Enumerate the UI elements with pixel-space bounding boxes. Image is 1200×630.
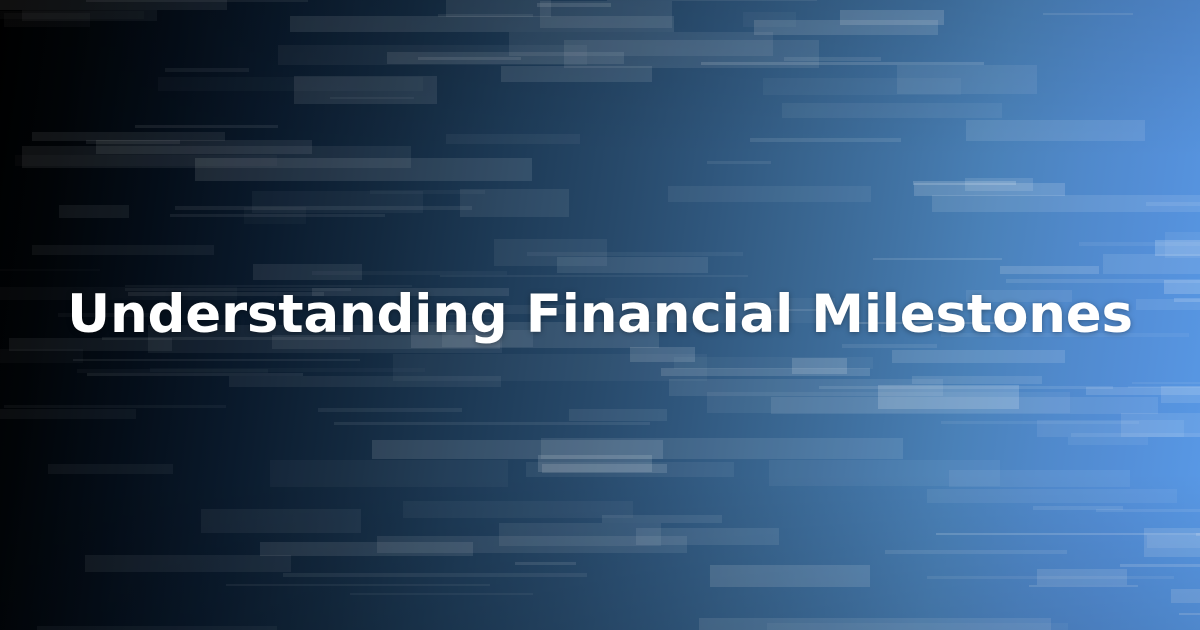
og-banner-card: Understanding Financial Milestones xyxy=(0,0,1200,630)
page-title: Understanding Financial Milestones xyxy=(27,285,1173,346)
title-container: Understanding Financial Milestones xyxy=(0,0,1200,630)
